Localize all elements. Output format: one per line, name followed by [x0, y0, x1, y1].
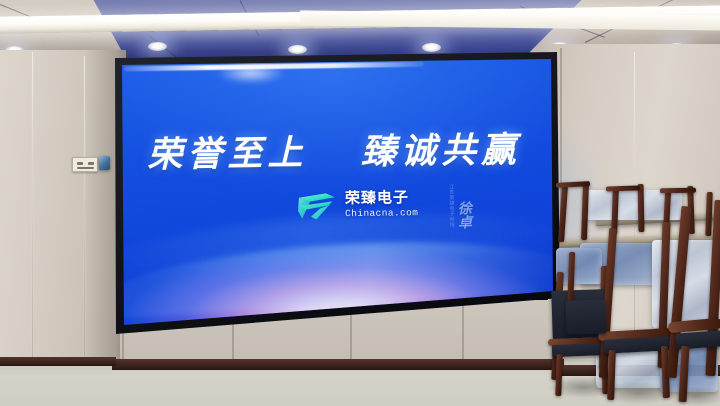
- slogan-part-1: 荣誉至上: [147, 133, 308, 174]
- screen-glare-spot: [216, 62, 286, 84]
- logo-company-name: 荣臻电子: [345, 190, 418, 206]
- calligraphy-watermark: 江苏荣臻电子科技 徐卓: [448, 184, 470, 230]
- chair-shadow: [666, 386, 720, 406]
- display-slogan: 荣誉至上 臻诚共赢: [108, 121, 560, 178]
- watermark-small-text: 江苏荣臻电子科技: [448, 184, 454, 229]
- wall-switch-panel-upper[interactable]: [72, 157, 98, 172]
- conference-room-scene: 荣誉至上 臻诚共赢: [0, 0, 720, 406]
- slogan-part-2: 臻诚共赢: [361, 130, 522, 171]
- wall-panel-seam: [32, 52, 33, 404]
- display-screen[interactable]: 荣誉至上 臻诚共赢: [108, 52, 560, 334]
- led-display[interactable]: 荣誉至上 臻诚共赢: [108, 52, 560, 334]
- baseboard: [0, 357, 116, 366]
- logo-text-block: 荣臻电子 Chinacna.com: [345, 190, 419, 219]
- ceiling-downlight: [422, 43, 441, 52]
- logo-website: Chinacna.com: [345, 208, 418, 219]
- double-arrow-logo-mark-icon: [296, 188, 338, 223]
- ceiling-downlight: [148, 42, 167, 51]
- chair-rail: [660, 188, 696, 194]
- baseboard: [112, 359, 564, 370]
- chair-leg-upturned: [638, 184, 645, 232]
- company-logo: 荣臻电子 Chinacna.com: [296, 187, 419, 223]
- chair-backrest: [565, 299, 606, 334]
- watermark-large-text: 徐卓: [456, 201, 470, 229]
